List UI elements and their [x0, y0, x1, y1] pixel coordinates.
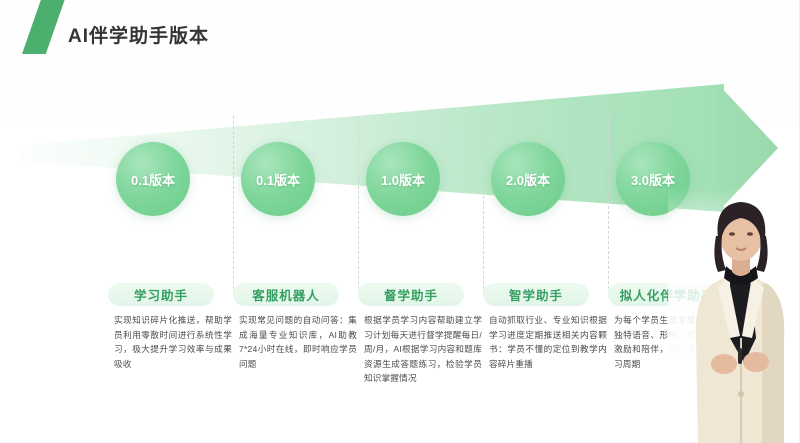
version-bubble: 3.0版本 [616, 142, 690, 216]
slide-canvas: AI伴学助手版本 0.1版本 学习助手 实现知识碎片化推送，帮助学员利用零散时间… [0, 0, 800, 443]
stage-description: 为每个学员生成专属助手赋予独特语音、形格，提供情感化激励和陪伴，陪伴学员整个学习… [614, 313, 732, 371]
column-divider [608, 116, 609, 294]
stage-name-badge: 拟人化伴学助手 [608, 283, 726, 306]
version-bubble: 0.1版本 [241, 142, 315, 216]
version-bubble: 0.1版本 [116, 142, 190, 216]
stage-description: 自动抓取行业、专业知识根据学习进度定期推送相关内容颗书：学员不懂的定位到教学内容… [489, 313, 607, 371]
column-divider [358, 116, 359, 294]
page-title: AI伴学助手版本 [68, 21, 209, 48]
version-bubble: 2.0版本 [491, 142, 565, 216]
stage-name-badge: 督学助手 [358, 283, 464, 306]
slide-header: AI伴学助手版本 [0, 0, 800, 66]
column-divider [483, 116, 484, 294]
stage-columns: 0.1版本 学习助手 实现知识碎片化推送，帮助学员利用零散时间进行系统性学习，极… [108, 110, 800, 410]
stage-name-badge: 智学助手 [483, 283, 589, 306]
stage-name-badge: 客服机器人 [233, 283, 339, 306]
stage-name-badge: 学习助手 [108, 283, 214, 306]
title-accent-shape [22, 0, 66, 54]
version-bubble: 1.0版本 [366, 142, 440, 216]
stage-description: 实现常见问题的自动问答：集成海量专业知识库，AI助教7*24小时在线，即时响应学… [239, 313, 357, 371]
stage-description: 实现知识碎片化推送，帮助学员利用零散时间进行系统性学习，极大提升学习效率与成果吸… [114, 313, 232, 371]
column-divider [233, 116, 234, 294]
stage-description: 根据学员学习内容帮助建立学习计划每天进行督学提醒每日/周/月，AI根据学习内容和… [364, 313, 482, 386]
